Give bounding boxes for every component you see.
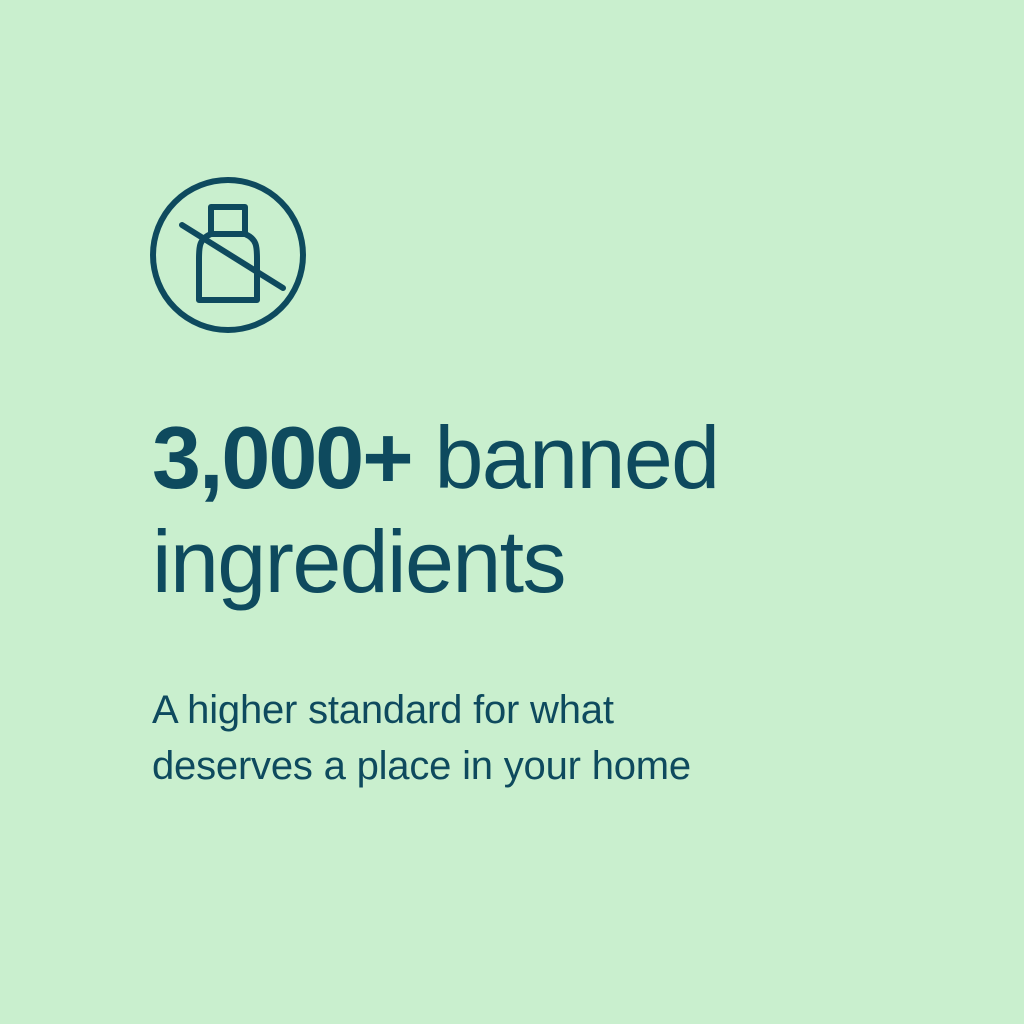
promo-card: 3,000+ banned ingredients A higher stand… — [0, 0, 1024, 1024]
no-bottle-icon — [150, 177, 306, 333]
page-subtitle-line-1: A higher standard for what — [152, 682, 912, 738]
page-subtitle: A higher standard for what deserves a pl… — [152, 682, 912, 794]
page-title: 3,000+ banned ingredients — [152, 406, 892, 614]
no-bottle-icon-svg — [150, 177, 306, 333]
banned-count-value: 3,000+ — [152, 408, 412, 507]
page-subtitle-line-2: deserves a place in your home — [152, 738, 912, 794]
bottle-cap-icon — [211, 207, 245, 234]
